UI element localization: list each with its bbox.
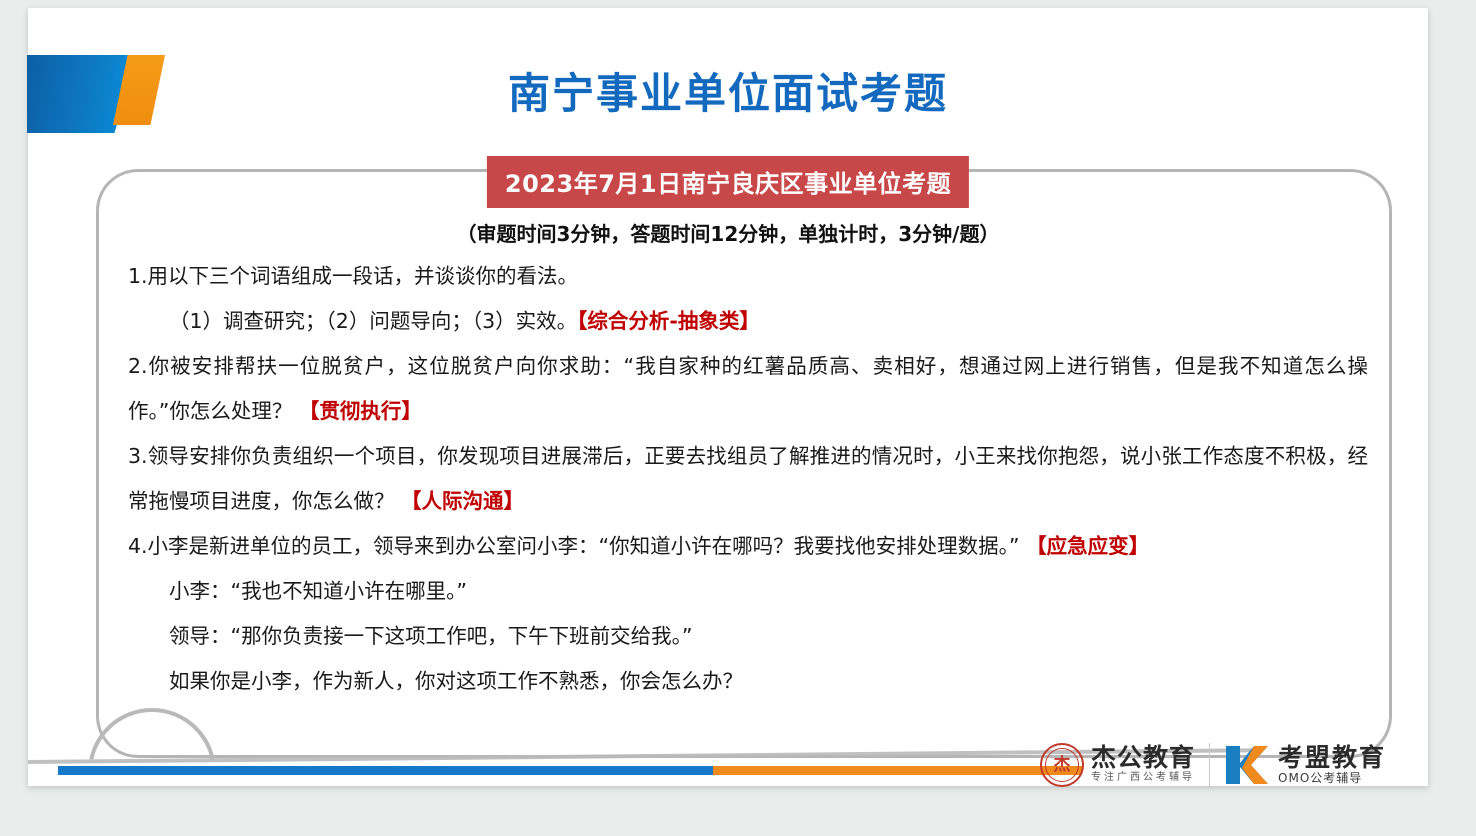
seal-icon: 杰 bbox=[1040, 743, 1084, 787]
logo-kaomeng-slogan: OMO公考辅导 bbox=[1278, 771, 1386, 786]
question-3-text: 3.领导安排你负责组织一个项目，你发现项目进展滞后，正要去找组员了解推进的情况时… bbox=[128, 444, 1368, 513]
slide-canvas: 南宁事业单位面试考题 2023年7月1日南宁良庆区事业单位考题 （审题时间3分钟… bbox=[28, 8, 1428, 786]
footer-logos: 杰 杰公教育 专注广西公考辅导 考盟教育 OMO公考辅导 bbox=[1040, 734, 1386, 796]
logo-kaomeng: 考盟教育 OMO公考辅导 bbox=[1224, 744, 1386, 786]
question-4-dialogue-2: 领导：“那你负责接一下这项工作吧，下午下班前交给我。” bbox=[128, 614, 1368, 659]
question-4-dialogue-3: 如果你是小李，作为新人，你对这项工作不熟悉，你会怎么办？ bbox=[128, 659, 1368, 704]
logo-divider bbox=[1209, 743, 1210, 787]
questions-body: 1.用以下三个词语组成一段话，并谈谈你的看法。 （1）调查研究；（2）问题导向；… bbox=[128, 254, 1368, 704]
question-1-tag: 【综合分析-抽象类】 bbox=[577, 309, 760, 333]
question-1-options: （1）调查研究；（2）问题导向；（3）实效。 bbox=[169, 309, 577, 333]
page-title: 南宁事业单位面试考题 bbox=[28, 60, 1428, 121]
logo-jiegong-text: 杰公教育 专注广西公考辅导 bbox=[1091, 745, 1195, 785]
footer-orange-rule bbox=[713, 766, 1082, 775]
k-mark-svg bbox=[1224, 744, 1270, 786]
exam-banner: 2023年7月1日南宁良庆区事业单位考题 bbox=[487, 156, 969, 208]
question-2-tag: 【贯彻执行】 bbox=[299, 399, 422, 423]
logo-jiegong-name: 杰公教育 bbox=[1091, 745, 1195, 771]
logo-jiegong: 杰 杰公教育 专注广西公考辅导 bbox=[1040, 743, 1195, 787]
seal-character: 杰 bbox=[1054, 757, 1071, 774]
footer-blue-rule bbox=[58, 766, 713, 775]
question-4-tag: 【应急应变】 bbox=[1026, 534, 1149, 558]
question-2: 2.你被安排帮扶一位脱贫户，这位脱贫户向你求助：“我自家种的红薯品质高、卖相好，… bbox=[128, 344, 1368, 434]
question-3: 3.领导安排你负责组织一个项目，你发现项目进展滞后，正要去找组员了解推进的情况时… bbox=[128, 434, 1368, 524]
k-mark-icon bbox=[1224, 744, 1270, 786]
question-4: 4.小李是新进单位的员工，领导来到办公室问小李：“你知道小许在哪吗？我要找他安排… bbox=[128, 524, 1368, 569]
logo-jiegong-slogan: 专注广西公考辅导 bbox=[1091, 771, 1195, 785]
question-4-dialogue-1: 小李：“我也不知道小许在哪里。” bbox=[128, 569, 1368, 614]
question-1-line-1: 1.用以下三个词语组成一段话，并谈谈你的看法。 bbox=[128, 254, 1368, 299]
question-1-line-2: （1）调查研究；（2）问题导向；（3）实效。【综合分析-抽象类】 bbox=[128, 299, 1368, 344]
question-4-text: 4.小李是新进单位的员工，领导来到办公室问小李：“你知道小许在哪吗？我要找他安排… bbox=[128, 534, 1020, 558]
question-3-tag: 【人际沟通】 bbox=[401, 489, 524, 513]
exam-timing-note: （审题时间3分钟，答题时间12分钟，单独计时，3分钟/题） bbox=[28, 218, 1428, 247]
slide-page: 南宁事业单位面试考题 2023年7月1日南宁良庆区事业单位考题 （审题时间3分钟… bbox=[0, 0, 1476, 814]
logo-kaomeng-text: 考盟教育 OMO公考辅导 bbox=[1278, 745, 1386, 786]
logo-kaomeng-name: 考盟教育 bbox=[1278, 745, 1386, 771]
